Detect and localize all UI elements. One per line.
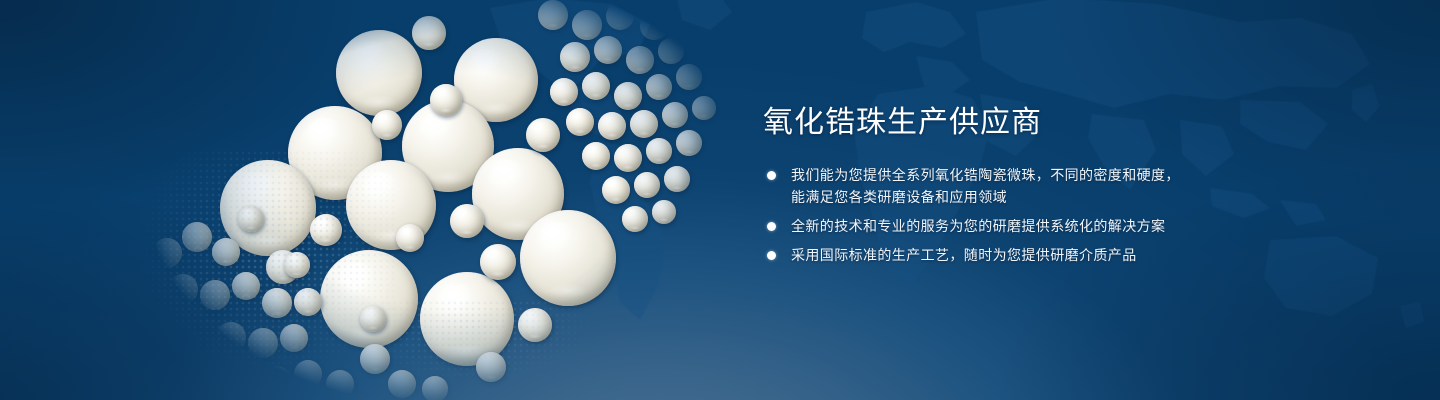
bullet-text-line1: 全新的技术和专业的服务为您的研磨提供系统化的解决方案 [791,218,1165,234]
banner-copy: 氧化锆珠生产供应商 我们能为您提供全系列氧化锆陶瓷微珠，不同的密度和硬度， 能满… [763,104,1283,273]
bullet-item: 全新的技术和专业的服务为您的研磨提供系统化的解决方案 [763,215,1283,237]
bullet-item: 我们能为您提供全系列氧化锆陶瓷微珠，不同的密度和硬度， 能满足您各类研磨设备和应… [763,164,1283,208]
bullet-dot-icon [767,222,776,231]
bullet-dot-icon [767,171,776,180]
banner-headline: 氧化锆珠生产供应商 [763,104,1283,142]
product-hero-banner: 氧化锆珠生产供应商 我们能为您提供全系列氧化锆陶瓷微珠，不同的密度和硬度， 能满… [0,0,1440,400]
bullet-text-line2: 能满足您各类研磨设备和应用领域 [791,186,1283,208]
bullet-item: 采用国际标准的生产工艺，随时为您提供研磨介质产品 [763,244,1283,266]
banner-bullet-list: 我们能为您提供全系列氧化锆陶瓷微珠，不同的密度和硬度， 能满足您各类研磨设备和应… [763,164,1283,266]
bullet-dot-icon [767,251,776,260]
bullet-text-line1: 我们能为您提供全系列氧化锆陶瓷微珠，不同的密度和硬度， [791,167,1180,183]
bullet-text-line1: 采用国际标准的生产工艺，随时为您提供研磨介质产品 [791,247,1137,263]
zirconia-beads-photo [120,0,740,400]
